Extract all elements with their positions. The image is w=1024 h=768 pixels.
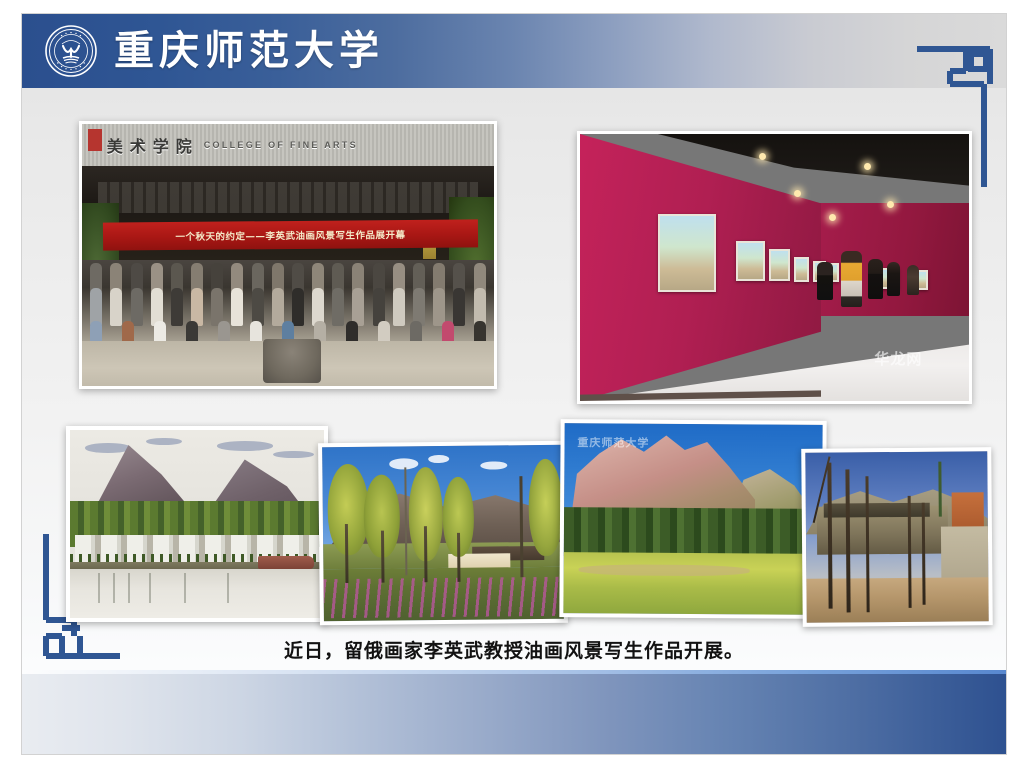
painting-1 — [66, 426, 328, 622]
footer-highlight-line — [22, 670, 1006, 674]
slide-footer-band — [22, 670, 1006, 754]
group-photo: 美术学院 COLLEGE OF FINE ARTS 一个秋天的约定——李英武油画… — [79, 121, 497, 389]
exhibition-hall-photo: 华龙网 — [577, 131, 972, 404]
building-sign-cn: 美术学院 — [107, 133, 199, 157]
slide-caption: 近日，留俄画家李英武教授油画风景写生作品开展。 — [22, 636, 1006, 663]
slide-header: 重庆师范大学 — [22, 14, 1006, 88]
slide-page: 重庆师范大学 — [0, 0, 1024, 768]
opening-banner: 一个秋天的约定——李英武油画风景写生作品展开幕 — [102, 219, 477, 250]
opening-banner-text: 一个秋天的约定——李英武油画风景写生作品展开幕 — [175, 227, 405, 243]
stone-planter — [263, 339, 321, 384]
building-logo-icon — [88, 129, 102, 151]
university-name: 重庆师范大学 — [114, 31, 384, 71]
building-sign-en: COLLEGE OF FINE ARTS — [204, 140, 358, 150]
presentation-slide: 重庆师范大学 — [22, 14, 1006, 754]
painting-4 — [801, 447, 993, 627]
building-signage: 美术学院 COLLEGE OF FINE ARTS — [107, 131, 358, 160]
painting-2 — [318, 441, 568, 626]
painting-3: 重庆师范大学 — [559, 419, 826, 619]
university-seal-icon — [44, 24, 98, 78]
